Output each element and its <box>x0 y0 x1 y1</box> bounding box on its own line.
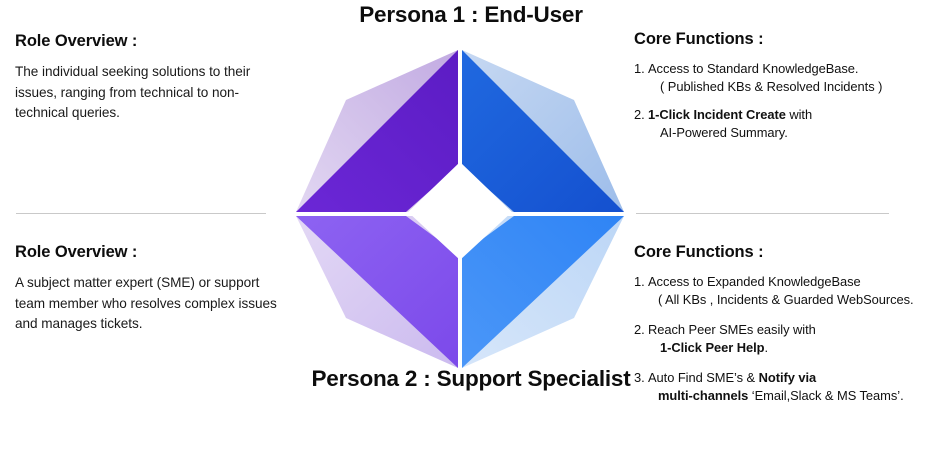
list-item-line2-rest: . <box>764 340 768 355</box>
four-quadrant-diamond-logo-icon <box>288 42 632 376</box>
list-item-line1: Auto Find SME’s & Notify via <box>648 370 816 385</box>
list-item-number: 3. <box>634 369 645 387</box>
persona-1-title: Persona 1 : End-User <box>0 2 936 28</box>
list-item-number: 1. <box>634 60 645 78</box>
list-item-line2: ( All KBs , Incidents & Guarded WebSourc… <box>648 291 936 309</box>
logo-quadrant-bottom-right <box>462 216 624 368</box>
list-item-line1-rest: with <box>786 107 812 122</box>
logo-quadrant-bottom-left <box>296 216 458 368</box>
list-item-number: 2. <box>634 321 645 339</box>
role-overview-specialist-block: Role Overview : A subject matter expert … <box>15 243 283 335</box>
list-item-number: 1. <box>634 273 645 291</box>
list-item-line1: Access to Expanded KnowledgeBase <box>648 274 861 289</box>
list-item-line1-pre: Auto Find SME’s & <box>648 370 759 385</box>
section-divider-left <box>16 213 266 214</box>
role-overview-heading: Role Overview : <box>15 32 273 51</box>
list-item: 1. Access to Standard KnowledgeBase. ( P… <box>634 60 934 95</box>
core-functions-heading: Core Functions : <box>634 243 936 262</box>
core-functions-specialist-block: Core Functions : 1. Access to Expanded K… <box>634 243 936 417</box>
list-item-line2-rest: ‘Email,Slack & MS Teams’. <box>748 388 903 403</box>
list-item-line1: Reach Peer SMEs easily with <box>648 322 816 337</box>
list-item-line2: multi-channels ‘Email,Slack & MS Teams’. <box>648 387 936 405</box>
list-item: 3. Auto Find SME’s & Notify via multi-ch… <box>634 369 936 404</box>
list-item-line1: 1-Click Incident Create with <box>648 107 812 122</box>
core-functions-heading: Core Functions : <box>634 30 934 49</box>
role-overview-heading: Role Overview : <box>15 243 283 262</box>
core-functions-list: 1. Access to Standard KnowledgeBase. ( P… <box>634 60 934 141</box>
list-item-line1-bold: 1-Click Incident Create <box>648 107 786 122</box>
core-functions-enduser-block: Core Functions : 1. Access to Standard K… <box>634 30 934 141</box>
list-item-line1-bold: Notify via <box>759 370 817 385</box>
list-item-line2: ( Published KBs & Resolved Incidents ) <box>648 78 934 96</box>
core-functions-list: 1. Access to Expanded KnowledgeBase ( Al… <box>634 273 936 404</box>
list-item-line2-bold: multi-channels <box>658 388 748 403</box>
list-item-line2: AI-Powered Summary. <box>648 124 934 142</box>
list-item-number: 2. <box>634 106 645 124</box>
list-item: 2. Reach Peer SMEs easily with 1-Click P… <box>634 321 936 356</box>
list-item-line1: Access to Standard KnowledgeBase. <box>648 61 858 76</box>
poster-canvas: Persona 1 : End-User Persona 2 : Support… <box>0 0 936 468</box>
section-divider-right <box>636 213 889 214</box>
list-item: 1. Access to Expanded KnowledgeBase ( Al… <box>634 273 936 308</box>
list-item-line2: 1-Click Peer Help. <box>648 339 936 357</box>
list-item-line2-bold: 1-Click Peer Help <box>660 340 764 355</box>
role-overview-body: The individual seeking solutions to thei… <box>15 62 273 124</box>
list-item: 2. 1-Click Incident Create with AI-Power… <box>634 106 934 141</box>
role-overview-enduser-block: Role Overview : The individual seeking s… <box>15 32 273 124</box>
role-overview-body: A subject matter expert (SME) or support… <box>15 273 283 335</box>
